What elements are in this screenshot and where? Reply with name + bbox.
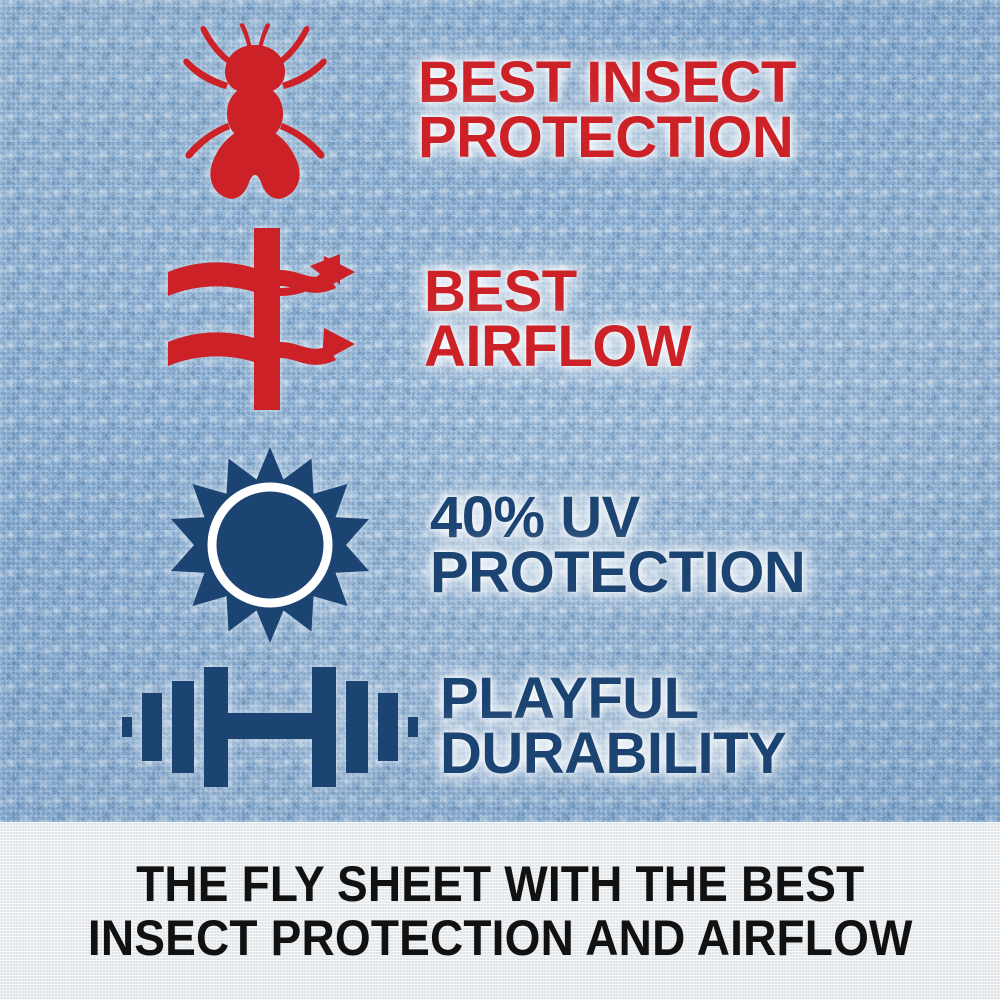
caption-band: THE FLY SHEET WITH THE BEST INSECT PROTE… [0,822,1000,1000]
dumbbell-icon [120,651,420,801]
sun-uv-icon [160,445,380,645]
feature-label-airflow: BEST AIRFLOW [424,264,691,374]
feature-row-durability: PLAYFUL DURABILITY [120,640,960,812]
feature-row-insect-protection: BEST INSECT PROTECTION [170,12,960,208]
feature-label-uv-protection: 40% UV PROTECTION [430,490,805,600]
caption-text: THE FLY SHEET WITH THE BEST INSECT PROTE… [88,857,913,965]
fly-icon [170,15,340,205]
feature-label-insect-protection: BEST INSECT PROTECTION [418,55,796,165]
feature-row-airflow: BEST AIRFLOW [150,218,960,420]
feature-label-durability: PLAYFUL DURABILITY [440,671,786,781]
product-feature-infographic: BEST INSECT PROTECTION [0,0,1000,1000]
airflow-arrows-icon [150,224,380,414]
feature-row-uv-protection: 40% UV PROTECTION [160,442,960,648]
